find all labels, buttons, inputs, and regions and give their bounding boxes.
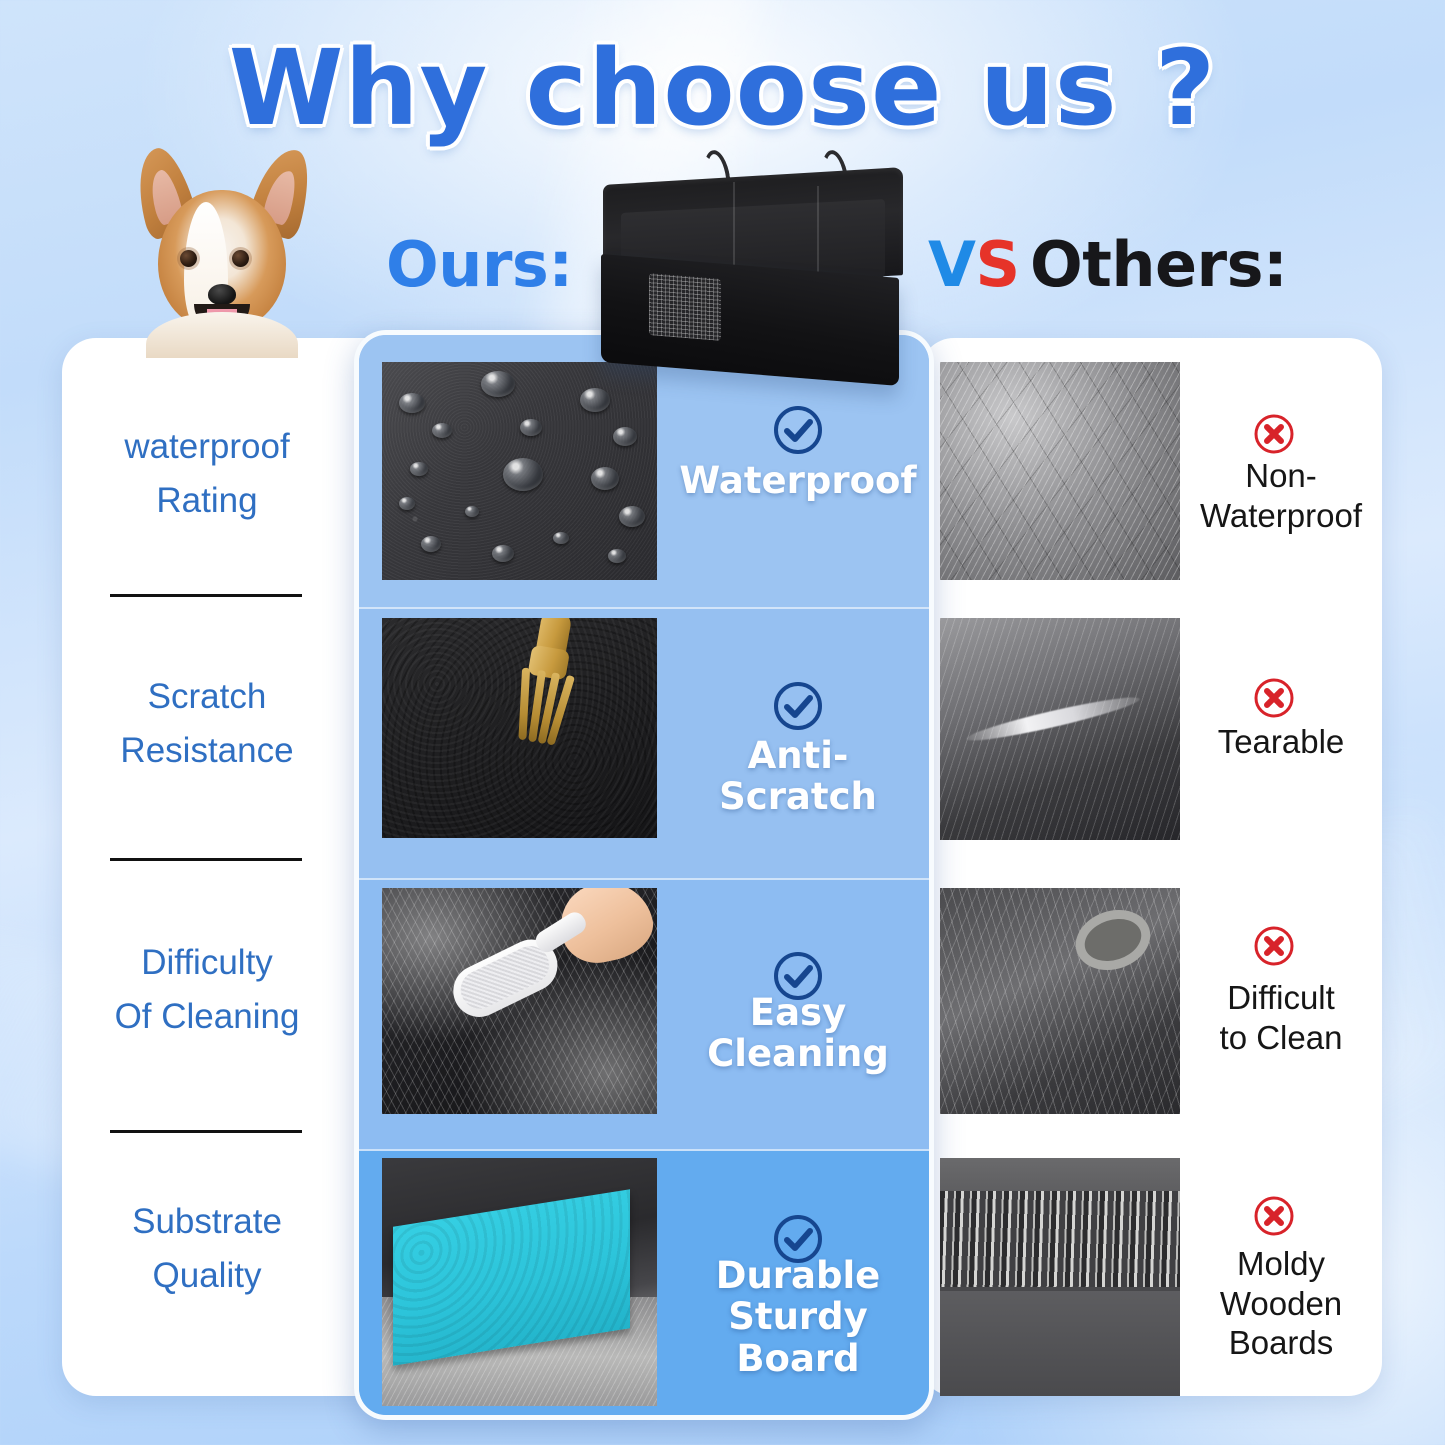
ours-image-sturdy-board bbox=[382, 1158, 657, 1406]
ours-verdict-4-line1: Durable bbox=[672, 1255, 924, 1296]
ours-verdict-3: Easy Cleaning bbox=[672, 992, 924, 1075]
others-verdict-2-line1: Tearable bbox=[1186, 722, 1376, 762]
criteria-label-2-line1: Scratch bbox=[92, 670, 322, 724]
others-verdict-1-line1: Non- bbox=[1186, 456, 1376, 496]
others-image-tearable bbox=[940, 618, 1180, 840]
gold-fork-icon bbox=[501, 618, 586, 763]
lint-brush-icon bbox=[442, 908, 602, 1029]
circle-x-icon bbox=[1252, 412, 1296, 456]
product-mesh-window bbox=[649, 273, 721, 341]
ours-image-easy-cleaning bbox=[382, 888, 657, 1114]
pet-hair-texture bbox=[382, 888, 657, 1114]
ours-verdict-2-line1: Anti-Scratch bbox=[672, 735, 924, 818]
criteria-divider bbox=[110, 858, 302, 861]
vs-letter-v: V bbox=[928, 228, 975, 301]
ours-image-anti-scratch bbox=[382, 618, 657, 838]
criteria-label-3: Difficulty Of Cleaning bbox=[92, 936, 322, 1045]
dog-nose bbox=[208, 284, 236, 305]
circle-x-icon bbox=[1252, 924, 1296, 968]
others-image-difficult-to-clean bbox=[940, 888, 1180, 1114]
dog-chest bbox=[146, 312, 298, 358]
ours-verdict-1-line1: Waterproof bbox=[672, 460, 924, 501]
column-header-vs: VS bbox=[928, 228, 1020, 301]
ours-verdict-3-line2: Cleaning bbox=[672, 1033, 924, 1074]
criteria-label-4: Substrate Quality bbox=[92, 1195, 322, 1304]
others-verdict-3-line2: to Clean bbox=[1186, 1018, 1376, 1058]
criteria-label-4-line2: Quality bbox=[92, 1249, 322, 1303]
criteria-label-2-line2: Resistance bbox=[92, 724, 322, 778]
others-verdict-4: Moldy Wooden Boards bbox=[1186, 1244, 1376, 1363]
torn-fabric-texture bbox=[940, 618, 1180, 840]
circle-x-icon bbox=[1252, 1194, 1296, 1238]
ours-verdict-3-line1: Easy bbox=[672, 992, 924, 1033]
criteria-label-3-line1: Difficulty bbox=[92, 936, 322, 990]
sturdy-board-texture bbox=[382, 1158, 657, 1406]
others-verdict-1-line2: Waterproof bbox=[1186, 496, 1376, 536]
circle-x-icon bbox=[1252, 676, 1296, 720]
column-header-ours: Ours: bbox=[386, 228, 573, 301]
moldy-wood-texture bbox=[940, 1158, 1180, 1396]
others-verdict-4-line1: Moldy Wooden bbox=[1186, 1244, 1376, 1323]
criteria-divider bbox=[110, 594, 302, 597]
dog-eye-left bbox=[180, 250, 197, 267]
others-verdict-1: Non- Waterproof bbox=[1186, 456, 1376, 535]
ours-image-waterproof bbox=[382, 362, 657, 580]
ours-verdict-1: Waterproof bbox=[672, 460, 924, 501]
dirty-fabric-texture bbox=[940, 888, 1180, 1114]
ours-verdict-4: Durable Sturdy Board bbox=[672, 1255, 924, 1379]
page-title: Why choose us ? bbox=[0, 34, 1445, 143]
criteria-label-1-line2: Rating bbox=[92, 474, 322, 528]
others-verdict-3: Difficult to Clean bbox=[1186, 978, 1376, 1057]
others-image-non-waterproof bbox=[940, 362, 1180, 580]
product-front-wall bbox=[601, 254, 899, 386]
dog-eye-right bbox=[232, 250, 249, 267]
grey-quilted-texture bbox=[940, 362, 1180, 580]
others-image-moldy-boards bbox=[940, 1158, 1180, 1396]
ours-verdict-2: Anti-Scratch bbox=[672, 735, 924, 818]
vs-letter-s: S bbox=[975, 228, 1019, 301]
others-verdict-2: Tearable bbox=[1186, 722, 1376, 762]
criteria-label-1-line1: waterproof bbox=[92, 420, 322, 474]
criteria-label-4-line1: Substrate bbox=[92, 1195, 322, 1249]
criteria-label-3-line2: Of Cleaning bbox=[92, 990, 322, 1044]
corgi-dog-photo bbox=[132, 146, 312, 346]
circle-check-icon bbox=[772, 404, 824, 456]
others-verdict-3-line1: Difficult bbox=[1186, 978, 1376, 1018]
criteria-label-1: waterproof Rating bbox=[92, 420, 322, 529]
criteria-divider bbox=[110, 1130, 302, 1133]
circle-check-icon bbox=[772, 680, 824, 732]
ours-verdict-4-line2: Sturdy Board bbox=[672, 1296, 924, 1379]
water-droplets-texture bbox=[382, 362, 657, 580]
criteria-label-2: Scratch Resistance bbox=[92, 670, 322, 779]
black-leather-texture bbox=[382, 618, 657, 838]
column-header-others: Others: bbox=[1030, 228, 1287, 301]
others-verdict-4-line2: Boards bbox=[1186, 1323, 1376, 1363]
product-image bbox=[585, 148, 915, 378]
